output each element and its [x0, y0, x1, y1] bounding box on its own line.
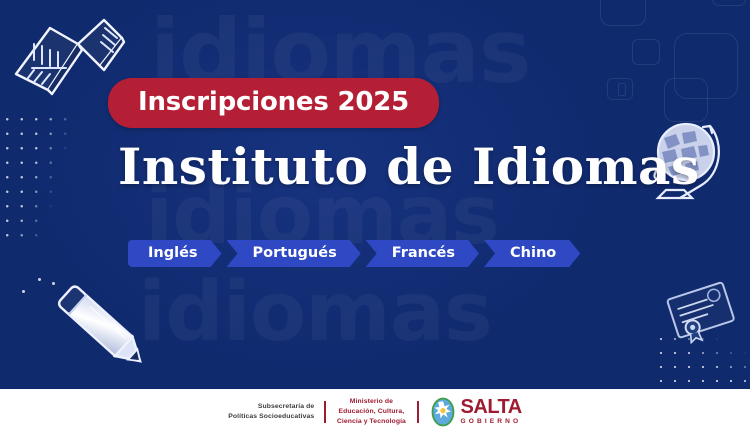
ministerio-line-1: Ministerio de: [337, 397, 406, 407]
language-pill-chino[interactable]: Chino: [484, 240, 580, 267]
salta-gobierno-logo: SALTA GOBIERNO: [419, 397, 522, 427]
rounded-square-icon: [632, 39, 660, 65]
dot-grid-left: [0, 112, 76, 240]
language-pill-ingles[interactable]: Inglés: [128, 240, 222, 267]
rounded-square-icon: [618, 83, 626, 96]
kicker-badge: Inscripciones 2025: [108, 78, 439, 128]
language-pill-frances[interactable]: Francés: [366, 240, 479, 267]
subsecretaria-line-1: Subsecretaría de: [228, 402, 314, 412]
banner-root: idiomas idiomas idiomas: [0, 0, 750, 438]
footer: Subsecretaría de Políticas Socioeducativ…: [0, 386, 750, 438]
open-book-icon: [4, 8, 128, 100]
salta-subtitle: GOBIERNO: [461, 419, 522, 426]
subsecretaria-line-2: Políticas Socioeducativas: [228, 412, 314, 422]
page-title: Instituto de Idiomas: [118, 142, 700, 192]
footer-top-rule: [0, 386, 750, 389]
footer-ministerio: Ministerio de Educación, Cultura, Cienci…: [326, 397, 417, 427]
ministerio-line-3: Ciencia y Tecnología: [337, 417, 406, 427]
rounded-square-icon: [600, 0, 646, 26]
salta-shield-emblem-icon: [431, 397, 455, 427]
language-pill-portugues[interactable]: Portugués: [227, 240, 361, 267]
certificate-icon: [662, 278, 740, 344]
language-list: Inglés Portugués Francés Chino: [128, 240, 580, 267]
footer-subsecretaria: Subsecretaría de Políticas Socioeducativ…: [228, 402, 324, 422]
pencil-icon: [24, 272, 176, 378]
salta-wordmark: SALTA: [461, 398, 522, 417]
watermark-row-3: idiomas: [138, 272, 492, 354]
ministerio-line-2: Educación, Cultura,: [337, 407, 406, 417]
rounded-square-icon: [712, 0, 746, 6]
